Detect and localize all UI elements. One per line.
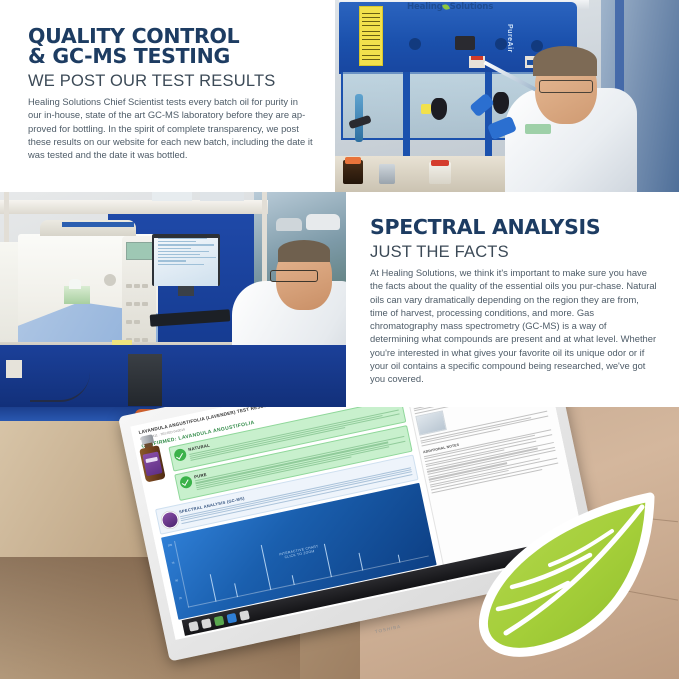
- quality-control-heading-line2: & GC-MS TESTING: [28, 46, 313, 66]
- desktop-computer-tower: [128, 354, 162, 406]
- workstation-monitor: [152, 234, 220, 286]
- chart-tick-label: 25: [179, 597, 182, 601]
- check-circle-icon: [173, 448, 187, 462]
- photo-tablet-report: 1 / 4 LAVANDULA ANGUSTIFOLIA (LAVENDER) …: [0, 407, 679, 679]
- chart-tick-label: 100: [168, 544, 173, 548]
- infographic-canvas: QUALITY CONTROL & GC-MS TESTING WE POST …: [0, 0, 679, 679]
- fume-hood-brand-label: HealingSolutions: [407, 2, 493, 12]
- photo-gcms-instrument: [0, 192, 346, 407]
- parked-car-2: [276, 218, 302, 231]
- spectral-analysis-body: At Healing Solutions, we think it's impo…: [370, 266, 657, 386]
- fume-hood-knob-1[interactable]: [409, 38, 421, 50]
- browser-icon[interactable]: [226, 612, 237, 623]
- product-seal-icon: [160, 509, 180, 529]
- brand-text-solutions: Solutions: [450, 2, 494, 12]
- explorer-icon[interactable]: [214, 615, 225, 626]
- quality-control-body: Healing Solutions Chief Scientist tests …: [28, 95, 313, 161]
- reagent-bottle-2: [379, 164, 395, 184]
- chart-tick-label: 75: [171, 562, 174, 566]
- parked-car-1: [306, 214, 340, 230]
- lower-cabinet-panel: [0, 345, 346, 407]
- start-icon[interactable]: [188, 621, 199, 632]
- bottle-cap-red: [431, 160, 449, 166]
- tissue-box: [64, 286, 90, 304]
- photo-fume-hood: HealingSolutions PureAir: [335, 0, 679, 192]
- eyeglasses-icon: [539, 80, 593, 93]
- eyeglasses-icon: [270, 270, 318, 282]
- monitor-screen: [154, 238, 218, 286]
- quality-control-subheading: WE POST OUR TEST RESULTS: [28, 71, 313, 91]
- overhead-shelf: [0, 200, 268, 214]
- leaf-logo: [472, 491, 668, 663]
- quality-control-heading: QUALITY CONTROL & GC-MS TESTING: [28, 26, 313, 66]
- glove-port-left: [431, 98, 447, 120]
- scientist-figure-fumehood: [505, 42, 637, 192]
- check-circle-icon: [179, 475, 193, 489]
- search-icon[interactable]: [201, 618, 212, 629]
- monitor-stand: [178, 286, 194, 296]
- chart-message: INTERACTIVE CHART CLICK TO ZOOM: [169, 521, 429, 585]
- spectral-analysis-text-panel: SPECTRAL ANALYSIS JUST THE FACTS At Heal…: [346, 192, 679, 407]
- gcms-keypad-keys[interactable]: [125, 276, 153, 338]
- fume-hood-post-mid: [485, 72, 492, 164]
- hazard-warning-label-icon: [359, 6, 383, 66]
- spectral-analysis-subheading: JUST THE FACTS: [370, 242, 657, 262]
- quality-control-text-panel: QUALITY CONTROL & GC-MS TESTING WE POST …: [0, 0, 335, 192]
- spectral-analysis-heading: SPECTRAL ANALYSIS: [370, 217, 657, 237]
- mail-icon[interactable]: [239, 610, 250, 621]
- bottle-cap-orange-1: [345, 157, 361, 164]
- brand-text-healing: Healing: [407, 2, 443, 12]
- wall-outlet: [6, 360, 22, 378]
- scientist-hair: [533, 46, 597, 76]
- gcms-dial[interactable]: [104, 274, 116, 286]
- gcms-lcd-display: [126, 242, 154, 260]
- fume-hood-post-left: [403, 72, 410, 164]
